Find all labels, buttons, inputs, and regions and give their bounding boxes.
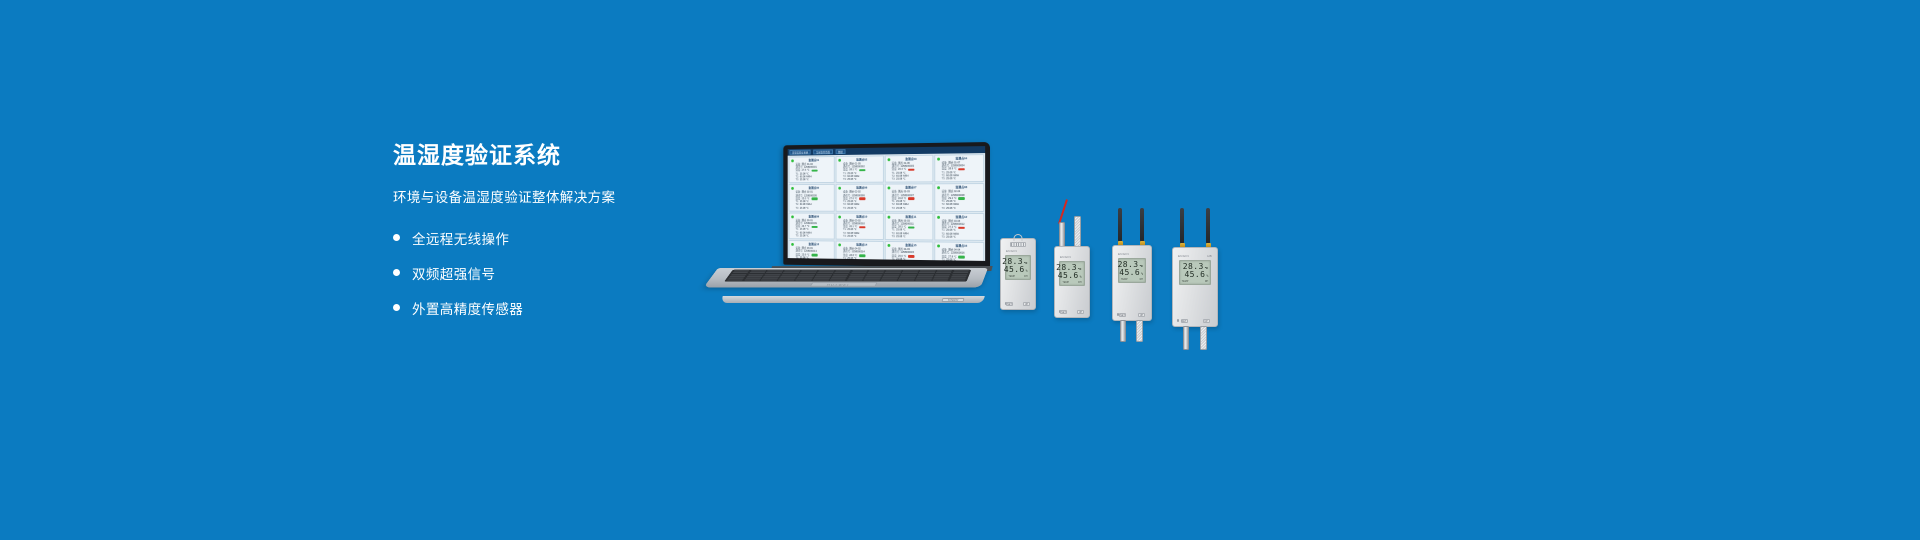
monitoring-card[interactable]: 监测点12设备:测点 03-04通讯号:1258000012温度:27.3 ℃T…	[934, 213, 984, 241]
status-badge	[811, 198, 817, 200]
monitoring-card-value: 25.08 ℃	[896, 178, 905, 181]
status-led-icon	[791, 187, 794, 190]
humidity-value: 45.6	[1119, 269, 1140, 277]
lcd-footer: TEMP RH	[1182, 280, 1209, 283]
status-led-icon	[791, 159, 794, 162]
keyboard-key[interactable]	[761, 280, 778, 281]
monitoring-card-value: 25.08 ℃	[946, 177, 956, 180]
monitoring-card-row: T3:25.08 ℃	[892, 207, 931, 210]
lcd-right-label: RH	[1140, 278, 1143, 281]
monitoring-card-value: 25.08 ℃	[896, 258, 905, 261]
probe-metal-icon	[1120, 320, 1126, 342]
monitoring-card-row: T1:25.08 ℃	[843, 257, 881, 261]
status-badge	[908, 197, 915, 200]
monitoring-card-value: 25.08 ℃	[946, 207, 956, 210]
device-button-set[interactable]: SET	[1119, 313, 1126, 317]
lcd-humidity-line: 45.6 %	[1119, 269, 1143, 277]
lcd-footer: TEMP RH	[1062, 281, 1081, 284]
keyboard-key[interactable]	[812, 280, 829, 281]
brand-left-label: ENGIN	[1006, 249, 1017, 253]
device-dual-antenna-logger[interactable]: ENGIN HB 28.3 ℃ 45.6 % TEMP RH	[1172, 208, 1218, 327]
vent-grille-icon	[1010, 242, 1026, 247]
lcd-footer: TEMP RH	[1008, 275, 1027, 278]
monitoring-card-value: 25.08 ℃	[847, 178, 856, 181]
lcd-humidity-line: 45.6 %	[1004, 266, 1028, 274]
status-badge	[859, 197, 865, 200]
feature-label: 外置高精度传感器	[412, 298, 523, 318]
monitoring-card-row: T3:25.08 ℃	[942, 236, 982, 240]
monitoring-card[interactable]: 监测点15设备:测点 04-03通讯号:1258000015温度:26.6 ℃T…	[884, 241, 933, 261]
lcd-display: 28.3 ℃ 45.6 % TEMP RH	[1179, 260, 1212, 285]
status-badge	[958, 256, 965, 259]
status-badge	[908, 255, 915, 258]
monitoring-card-key: T1:	[796, 256, 799, 259]
laptop-screen: 温湿度验证系统 当前监控页面 数据 监测点01设备:测点 01-04通讯号:12…	[788, 146, 985, 261]
brand-right-label: HB	[1207, 254, 1212, 258]
monitoring-card-row: T2:60.08 %RH	[843, 260, 881, 261]
device-wall-mount-logger[interactable]: ENGIN 28.3 ℃ 45.6 % TEMP RH	[1000, 238, 1036, 310]
monitoring-card[interactable]: 监测点11设备:测点 03-03通讯号:1258000011温度:28.5 ℃T…	[884, 213, 933, 241]
feature-label: 全远程无线操作	[412, 228, 509, 248]
monitoring-card-key: T3:	[843, 235, 846, 238]
humidity-value: 45.6	[1058, 272, 1079, 280]
monitoring-card[interactable]: 监测点08设备:测点 02-04通讯号:1258000008温度:29.2 ℃T…	[934, 183, 984, 211]
monitoring-card[interactable]: 监测点14设备:测点 04-02通讯号:1258000014温度:28.8 ℃T…	[836, 241, 884, 261]
device-buttons: SET UP	[1173, 319, 1217, 323]
status-led-icon	[887, 158, 890, 161]
monitoring-card-value: 25.08 ℃	[800, 178, 809, 181]
device-body: ENGIN 28.3 ℃ 45.6 % TEMP RH	[1000, 238, 1036, 310]
device-external-probe-logger[interactable]: ENGIN 28.3 ℃ 45.6 % TEMP RH	[1054, 222, 1090, 318]
monitoring-card-value: 60.08 %RH	[800, 259, 812, 261]
device-buttons: SET UP	[1113, 313, 1151, 317]
laptop-front-badge: TOUCH	[942, 298, 965, 302]
bullet-dot-icon	[393, 234, 400, 241]
monitoring-card-key: T3:	[796, 179, 799, 182]
monitoring-card[interactable]: 监测点06设备:测点 02-02通讯号:1258000006温度:27.0 ℃T…	[836, 184, 884, 212]
monitoring-card-value: 25.08 ℃	[847, 257, 856, 260]
monitoring-card-row: T3:25.08 ℃	[843, 206, 881, 209]
topbar-item[interactable]: 温湿度验证系统	[789, 150, 810, 155]
keyboard-key[interactable]	[898, 280, 914, 281]
status-led-icon	[839, 187, 842, 190]
sensor-device-group: ENGIN 28.3 ℃ 45.6 % TEMP RH	[1000, 190, 1250, 320]
device-button-set[interactable]: SET	[1060, 310, 1067, 314]
monitoring-card-value: 25.08 ℃	[896, 207, 905, 210]
device-button-up[interactable]: UP	[1023, 302, 1030, 306]
status-led-icon	[887, 244, 890, 247]
temperature-unit: ℃	[1205, 267, 1209, 270]
device-brand: ENGIN	[1055, 255, 1089, 259]
monitoring-card[interactable]: 监测点01设备:测点 01-04通讯号:1258000001温度:27.6 ℃T…	[789, 156, 835, 184]
monitoring-card-row: T3:25.08 ℃	[796, 206, 833, 209]
monitoring-card-value: 25.08 ℃	[896, 235, 905, 238]
status-led-icon	[839, 159, 842, 162]
monitoring-card-key: T2:	[796, 259, 799, 261]
lcd-display: 28.3 ℃ 45.6 % TEMP RH	[1005, 255, 1030, 280]
page-title: 温湿度验证系统	[393, 142, 723, 170]
status-badge	[811, 254, 817, 257]
bullet-dot-icon	[393, 269, 400, 276]
status-led-icon	[791, 215, 794, 218]
probe-filter-icon	[1074, 216, 1081, 248]
keyboard-key[interactable]	[846, 280, 863, 281]
list-item: 全远程无线操作	[393, 228, 723, 248]
monitoring-card-key: T3:	[843, 178, 846, 181]
hook-icon	[1014, 234, 1023, 241]
status-badge	[859, 226, 865, 229]
keyboard-key[interactable]	[881, 280, 898, 281]
status-led-icon	[791, 243, 794, 246]
monitoring-card[interactable]: 监测点13设备:测点 04-01通讯号:1258000013温度:25.9 ℃T…	[789, 240, 835, 261]
lcd-footer: TEMP RH	[1121, 278, 1143, 281]
device-body: ENGIN 28.3 ℃ 45.6 % TEMP RH	[1054, 246, 1090, 318]
bullet-dot-icon	[393, 304, 400, 311]
laptop-lid: 温湿度验证系统 当前监控页面 数据 监测点01设备:测点 01-04通讯号:12…	[783, 142, 990, 268]
list-item: 外置高精度传感器	[393, 298, 723, 318]
humidity-unit: %	[1026, 270, 1028, 273]
lcd-right-label: RH	[1078, 281, 1081, 284]
status-badge	[859, 169, 865, 172]
monitoring-card-value: 25.08 ℃	[946, 236, 956, 239]
monitoring-card-key: T3:	[942, 207, 946, 210]
probe-metal-icon	[1183, 326, 1189, 350]
monitoring-card-key: T2:	[843, 260, 846, 261]
antenna-icon	[1180, 208, 1184, 244]
monitoring-card-row: T3:25.08 ℃	[843, 235, 881, 238]
brand-left-label: ENGIN	[1178, 254, 1189, 258]
red-cable-icon	[1058, 199, 1068, 224]
antenna-icon	[1206, 208, 1210, 244]
humidity-unit: %	[1206, 275, 1208, 278]
laptop-brand-label: HUAWEI	[826, 283, 850, 286]
keyboard-key[interactable]	[829, 280, 846, 281]
monitoring-card[interactable]: 监测点04设备:测点 01-07通讯号:1258000004温度:28.9 ℃T…	[934, 154, 984, 183]
monitoring-card[interactable]: 监测点03设备:测点 01-06通讯号:1258000003温度:26.4 ℃T…	[884, 155, 933, 183]
humidity-unit: %	[1080, 276, 1082, 279]
device-button-up[interactable]: UP	[1138, 313, 1145, 317]
device-brand: ENGIN	[1113, 252, 1151, 256]
lcd-right-label: RH	[1205, 280, 1208, 283]
keyboard-key[interactable]	[949, 280, 965, 281]
humidity-value: 45.6	[1184, 271, 1205, 279]
monitoring-card-key: T3:	[796, 234, 799, 237]
status-led-icon	[839, 215, 842, 218]
lcd-humidity-line: 45.6 %	[1058, 272, 1082, 280]
status-badge	[811, 226, 817, 229]
brand-left-label: ENGIN	[1060, 255, 1071, 259]
monitoring-card-value: 25.08 ℃	[800, 206, 809, 209]
monitoring-card-row: T3:25.08 ℃	[892, 178, 931, 181]
monitoring-card-key: T1:	[942, 258, 946, 261]
monitoring-card-key: T3:	[942, 177, 946, 180]
lcd-left-label: TEMP	[1008, 275, 1015, 278]
monitoring-card-value: 25.08 ℃	[946, 258, 956, 261]
monitoring-card-key: T3:	[843, 206, 846, 209]
lcd-display: 28.3 ℃ 45.6 % TEMP RH	[1059, 261, 1084, 286]
monitoring-card-value: 25.08 ℃	[800, 256, 809, 259]
monitoring-card-key: T1:	[892, 258, 895, 261]
monitoring-card-row: T3:25.08 ℃	[942, 207, 982, 210]
keyboard-row	[727, 280, 966, 281]
status-badge	[908, 226, 915, 229]
feature-list: 全远程无线操作 双频超强信号 外置高精度传感器	[393, 228, 723, 318]
monitoring-card-value: 25.08 ℃	[847, 206, 856, 209]
device-body: ENGIN HB 28.3 ℃ 45.6 % TEMP RH	[1172, 247, 1218, 327]
probe-filter-icon	[1136, 320, 1143, 342]
monitoring-card-row: T3:25.08 ℃	[892, 235, 931, 238]
monitoring-card-key: T3:	[892, 235, 895, 238]
device-button-up[interactable]: UP	[1077, 310, 1084, 314]
monitoring-card[interactable]: 监测点16设备:测点 04-04通讯号:1258000016温度:27.8 ℃T…	[934, 242, 984, 261]
humidity-value: 45.6	[1004, 266, 1025, 274]
probe-filter-icon	[1200, 326, 1207, 350]
device-brand: ENGIN	[1001, 249, 1035, 253]
feature-label: 双频超强信号	[412, 263, 495, 283]
lcd-left-label: TEMP	[1182, 280, 1189, 283]
laptop-keyboard[interactable]	[724, 270, 971, 282]
monitoring-card-row: T1:25.08 ℃	[796, 256, 833, 260]
status-badge	[859, 254, 865, 257]
keyboard-key[interactable]	[744, 280, 761, 281]
monitoring-card-key: T3:	[942, 236, 946, 239]
keyboard-key[interactable]	[795, 280, 812, 281]
product-stage: 温湿度验证系统 当前监控页面 数据 监测点01设备:测点 01-04通讯号:12…	[700, 120, 1260, 320]
monitoring-card[interactable]: 监测点02设备:测点 01-05通讯号:1258000002温度:28.1 ℃T…	[836, 155, 884, 183]
list-item: 双频超强信号	[393, 263, 723, 283]
monitoring-card-row: T1:25.08 ℃	[892, 258, 931, 261]
antenna-icon	[1118, 208, 1122, 242]
laptop-illustration: 温湿度验证系统 当前监控页面 数据 监测点01设备:测点 01-04通讯号:12…	[700, 120, 990, 300]
monitoring-card[interactable]: 监测点05设备:测点 02-01通讯号:1258000005温度:25.3 ℃T…	[789, 184, 835, 211]
monitoring-card-row: T3:25.08 ℃	[843, 178, 881, 181]
keyboard-key[interactable]	[864, 280, 881, 281]
monitoring-card-row: T2:60.08 %RH	[796, 259, 833, 261]
monitoring-card[interactable]: 监测点10设备:测点 03-02通讯号:1258000010温度:26.1 ℃T…	[836, 212, 884, 240]
monitoring-card-key: T1:	[843, 257, 846, 260]
hero-text-block: 温湿度验证系统 环境与设备温湿度验证整体解决方案 全远程无线操作 双频超强信号 …	[393, 142, 723, 333]
status-badge	[958, 226, 965, 229]
page-subtitle: 环境与设备温湿度验证整体解决方案	[393, 186, 723, 206]
status-badge	[811, 169, 817, 172]
device-brand: ENGIN HB	[1173, 254, 1217, 258]
keyboard-key[interactable]	[915, 280, 931, 281]
monitoring-card-row: T3:25.08 ℃	[942, 177, 982, 180]
monitoring-card-value: 25.08 ℃	[800, 234, 809, 237]
monitoring-card-value: 25.08 ℃	[847, 235, 856, 238]
device-buttons: SET UP	[1001, 302, 1035, 306]
keyboard-key[interactable]	[932, 280, 948, 281]
lcd-humidity-line: 45.6 %	[1184, 271, 1208, 279]
keyboard-key[interactable]	[727, 280, 744, 281]
lcd-left-label: TEMP	[1062, 281, 1069, 284]
device-dual-probe-logger[interactable]: ENGIN 28.3 ℃ 45.6 % TEMP RH	[1112, 208, 1152, 321]
status-led-icon	[937, 245, 940, 248]
antenna-icon	[1140, 208, 1144, 242]
status-led-icon	[937, 158, 940, 161]
probe-metal-icon	[1059, 222, 1065, 248]
monitoring-card-key: T3:	[892, 178, 895, 181]
topbar-item[interactable]: 数据	[835, 149, 845, 154]
status-led-icon	[887, 187, 890, 190]
device-button-set[interactable]: SET	[1181, 319, 1188, 323]
humidity-unit: %	[1141, 273, 1143, 276]
topbar-item[interactable]: 当前监控页面	[813, 149, 832, 154]
status-led-icon	[839, 244, 842, 247]
monitoring-card-row: T3:25.08 ℃	[796, 234, 833, 237]
monitoring-card-row: T1:25.08 ℃	[942, 258, 982, 261]
monitoring-card-row: T3:25.08 ℃	[796, 178, 833, 181]
lcd-display: 28.3 ℃ 45.6 % TEMP RH	[1118, 258, 1146, 283]
keyboard-key[interactable]	[778, 280, 795, 281]
brand-left-label: ENGIN	[1118, 252, 1129, 256]
status-badge	[958, 197, 965, 200]
laptop-base: HUAWEI	[703, 268, 988, 288]
status-led-icon	[937, 216, 940, 219]
lcd-right-label: RH	[1024, 275, 1027, 278]
status-led-icon	[887, 215, 890, 218]
status-led-icon	[937, 187, 940, 190]
monitoring-card-grid: 监测点01设备:测点 01-04通讯号:1258000001温度:27.6 ℃T…	[788, 153, 985, 261]
monitoring-card-key: T3:	[892, 207, 895, 210]
device-buttons: SET UP	[1055, 310, 1089, 314]
device-button-set[interactable]: SET	[1006, 302, 1013, 306]
monitoring-card-value: 60.08 %RH	[847, 260, 859, 261]
device-body: ENGIN 28.3 ℃ 45.6 % TEMP RH	[1112, 245, 1152, 321]
device-button-up[interactable]: UP	[1203, 319, 1210, 323]
lcd-left-label: TEMP	[1121, 278, 1128, 281]
monitoring-card[interactable]: 监测点07设备:测点 02-03通讯号:1258000007温度:26.8 ℃T…	[884, 184, 933, 212]
monitoring-card-key: T3:	[796, 206, 799, 209]
monitoring-card[interactable]: 监测点09设备:测点 03-01通讯号:1258000009温度:24.7 ℃T…	[789, 212, 835, 239]
